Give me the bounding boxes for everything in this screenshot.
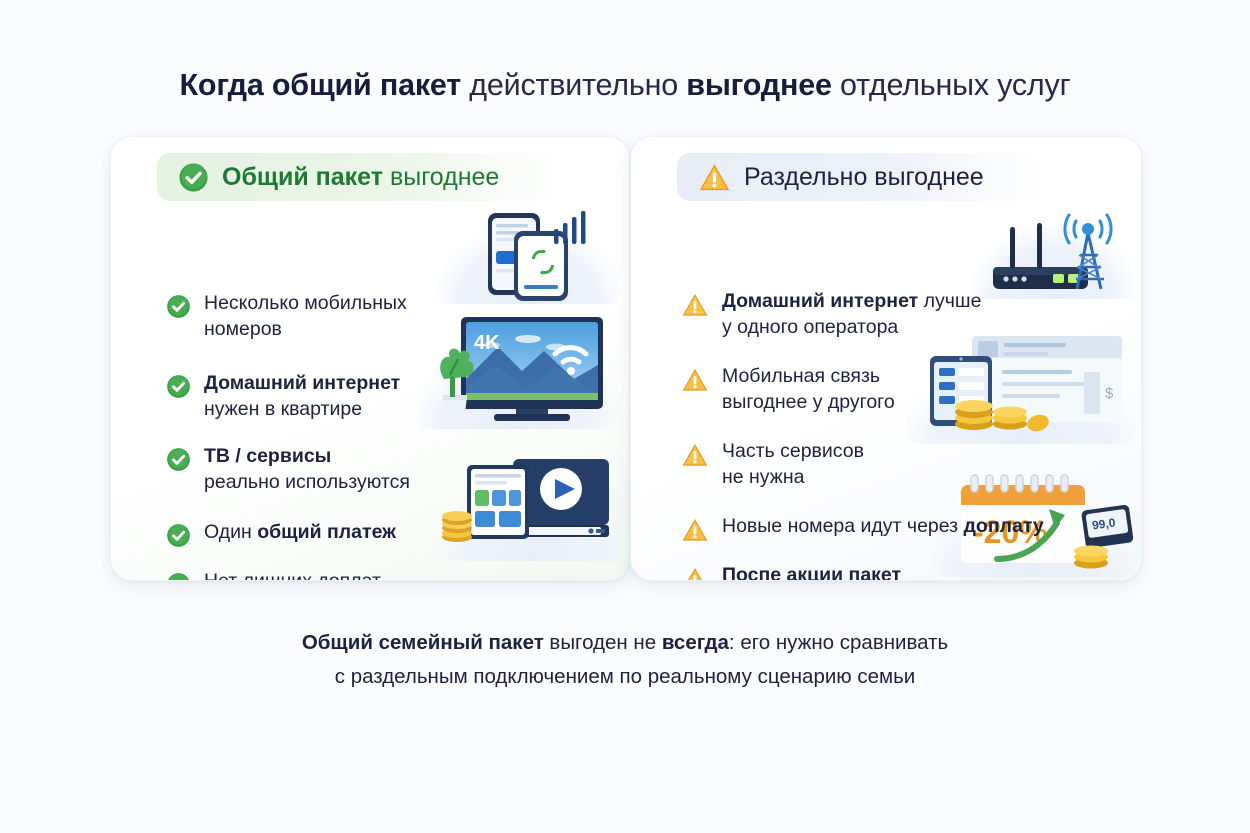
check-circle-icon (166, 447, 191, 472)
svg-text:$: $ (1105, 385, 1114, 402)
left-card-title: Общий пакет выгоднее (222, 163, 499, 192)
list-item: Поспе акции пакетзаметно дорожает (631, 563, 901, 581)
right-card-header: Раздельно выгоднее (677, 153, 1044, 201)
list-item-text: Нет лишних доплатза участников (204, 569, 381, 581)
list-item-text: Один общий платеж (204, 520, 396, 546)
tablet-invoice-coins-illustration: $ (906, 332, 1136, 444)
warning-triangle-icon (698, 162, 731, 193)
list-item: Домашний интернетнужен в квартире (111, 371, 400, 422)
warning-triangle-icon (681, 442, 709, 468)
media-player-illustration (441, 449, 626, 561)
infographic-page: Когда общий пакет действительно выгоднее… (0, 0, 1250, 833)
warning-triangle-icon (681, 566, 709, 581)
list-item-text: Поспе акции пакетзаметно дорожает (722, 563, 901, 581)
check-circle-icon (166, 294, 191, 319)
list-item: Домашний интернет лучшеу одного оператор… (631, 289, 981, 340)
list-item-text: ТВ / сервисыреально используются (204, 444, 410, 495)
warning-triangle-icon (681, 517, 709, 543)
svg-text:4K: 4K (474, 332, 500, 354)
list-item-text: Домашний интернетнужен в квартире (204, 371, 400, 422)
warning-triangle-icon (681, 367, 709, 393)
check-circle-icon (178, 162, 209, 193)
list-item-text: Часть сервисовне нужна (722, 439, 864, 490)
list-item: ТВ / сервисыреально используются (111, 444, 410, 495)
warning-triangle-icon (681, 292, 709, 318)
list-item-text: Мобильная связьвыгоднее у другого (722, 364, 895, 415)
list-item: Один общий платеж (111, 520, 396, 548)
check-circle-icon (166, 374, 191, 399)
list-item-text: Новые номера идут через доплату (722, 514, 1044, 540)
list-item: Несколько мобильныхномеров (111, 291, 407, 342)
list-item-text: Несколько мобильныхномеров (204, 291, 407, 342)
smart-tv-illustration: 4K (416, 309, 616, 429)
list-item: Мобильная связьвыгоднее у другого (631, 364, 895, 415)
page-title: Когда общий пакет действительно выгоднее… (0, 68, 1250, 103)
check-circle-icon (166, 523, 191, 548)
svg-text:99,0: 99,0 (1091, 515, 1116, 532)
check-circle-icon (166, 572, 191, 581)
list-item: Новые номера идут через доплату (631, 514, 1044, 543)
router-tower-illustration (971, 199, 1136, 299)
right-card-title: Раздельно выгоднее (744, 163, 984, 192)
left-card-header: Общий пакет выгоднее (157, 153, 559, 201)
footer-note: Общий семейный пакет выгоден не всегда: … (0, 626, 1250, 694)
list-item-text: Домашний интернет лучшеу одного оператор… (722, 289, 981, 340)
card-separate-better: Раздельно выгоднее (630, 136, 1142, 581)
list-item: Часть сервисовне нужна (631, 439, 864, 490)
card-package-better: Общий пакет выгоднее (110, 136, 630, 581)
two-phones-illustration (436, 199, 621, 304)
list-item: Нет лишних доплатза участников (111, 569, 381, 581)
